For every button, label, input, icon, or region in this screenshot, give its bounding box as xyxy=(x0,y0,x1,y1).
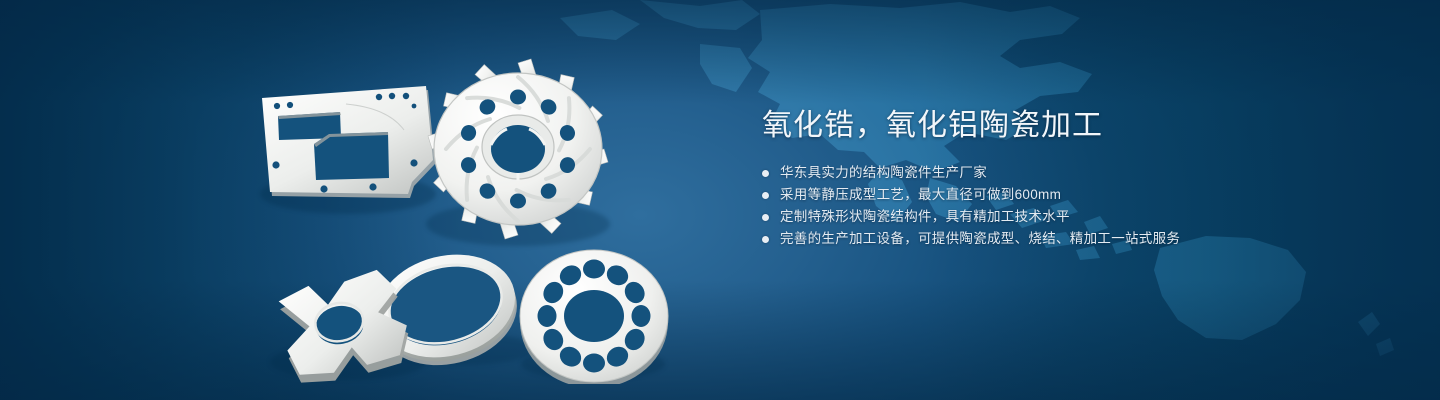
ceramic-parts-photo xyxy=(228,44,708,384)
bullet-dot-icon xyxy=(762,170,769,177)
banner-headline: 氧化锆，氧化铝陶瓷加工 xyxy=(762,106,1382,146)
bullet-dot-icon xyxy=(762,214,769,221)
banner-copy: 氧化锆，氧化铝陶瓷加工 华东具实力的结构陶瓷件生产厂家 采用等静压成型工艺，最大… xyxy=(762,106,1382,250)
banner-feature-list: 华东具实力的结构陶瓷件生产厂家 采用等静压成型工艺，最大直径可做到600mm 定… xyxy=(762,162,1382,250)
bullet-dot-icon xyxy=(762,192,769,199)
list-item: 定制特殊形状陶瓷结构件，具有精加工技术水平 xyxy=(762,206,1382,228)
bullet-text: 完善的生产加工设备，可提供陶瓷成型、烧结、精加工一站式服务 xyxy=(780,228,1180,250)
bullet-dot-icon xyxy=(762,236,769,243)
bullet-text: 华东具实力的结构陶瓷件生产厂家 xyxy=(780,162,987,184)
promo-banner: 氧化锆，氧化铝陶瓷加工 华东具实力的结构陶瓷件生产厂家 采用等静压成型工艺，最大… xyxy=(0,0,1440,400)
ceramic-plate-part xyxy=(262,86,435,198)
list-item: 完善的生产加工设备，可提供陶瓷成型、烧结、精加工一站式服务 xyxy=(762,228,1382,250)
list-item: 采用等静压成型工艺，最大直径可做到600mm xyxy=(762,184,1382,206)
ceramic-perforated-disc-part xyxy=(520,250,668,384)
bullet-text: 定制特殊形状陶瓷结构件，具有精加工技术水平 xyxy=(780,206,1070,228)
list-item: 华东具实力的结构陶瓷件生产厂家 xyxy=(762,162,1382,184)
bullet-text: 采用等静压成型工艺，最大直径可做到600mm xyxy=(780,184,1061,206)
